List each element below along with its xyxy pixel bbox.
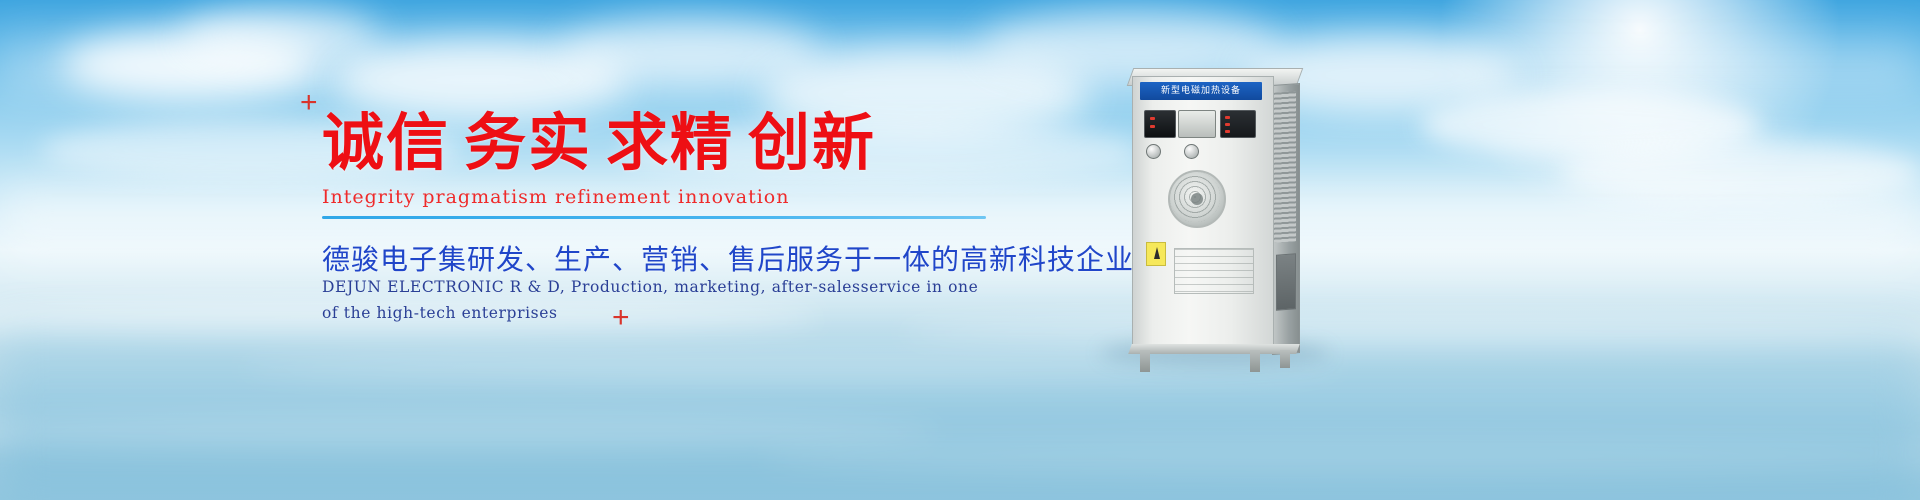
machine-base (1128, 344, 1300, 354)
divider-rule (322, 216, 986, 219)
machine-led-indicator (1150, 125, 1155, 128)
headline-subtitle-en: Integrity pragmatism refinement innovati… (322, 186, 789, 208)
machine-vent-louvers (1274, 91, 1296, 243)
product-machine: 新型电磁加热设备 (1122, 58, 1302, 358)
machine-warning-sticker (1146, 242, 1166, 266)
headline-word: 诚信 (322, 106, 450, 179)
machine-display-left (1144, 110, 1176, 138)
machine-panel-label: 新型电磁加热设备 (1140, 82, 1262, 100)
machine-foot (1250, 350, 1260, 372)
machine-knob (1146, 144, 1161, 159)
hero-banner: + + 诚信务实求精创新 Integrity pragmatism refine… (0, 0, 1920, 500)
machine-led-indicator (1150, 117, 1155, 120)
description-en-line-1: DEJUN ELECTRONIC R & D, Production, mark… (322, 274, 978, 300)
description-en-line-2: of the high-tech enterprises (322, 300, 978, 326)
machine-nameplate (1174, 248, 1254, 294)
banner-copy: + + 诚信务实求精创新 Integrity pragmatism refine… (0, 0, 1100, 500)
machine-analog-gauge (1178, 110, 1216, 138)
description-cn: 德骏电子集研发、生产、营销、售后服务于一体的高新科技企业 (322, 238, 1134, 278)
machine-foot (1140, 350, 1150, 372)
machine-keypad (1220, 110, 1256, 138)
machine-led-indicator (1225, 116, 1230, 119)
headline-word: 求精 (606, 106, 734, 179)
machine-foot (1280, 350, 1290, 368)
machine-led-indicator (1225, 123, 1230, 126)
headline-word: 务实 (464, 106, 592, 179)
machine-side-panel (1276, 253, 1296, 310)
headline: 诚信务实求精创新 (322, 112, 876, 174)
description-en: DEJUN ELECTRONIC R & D, Production, mark… (322, 274, 978, 326)
machine-knob (1184, 144, 1199, 159)
decor-plus-icon: + (300, 88, 318, 118)
headline-word: 创新 (748, 106, 876, 179)
machine-led-indicator (1225, 130, 1230, 133)
machine-fan-grille-icon (1170, 172, 1220, 222)
